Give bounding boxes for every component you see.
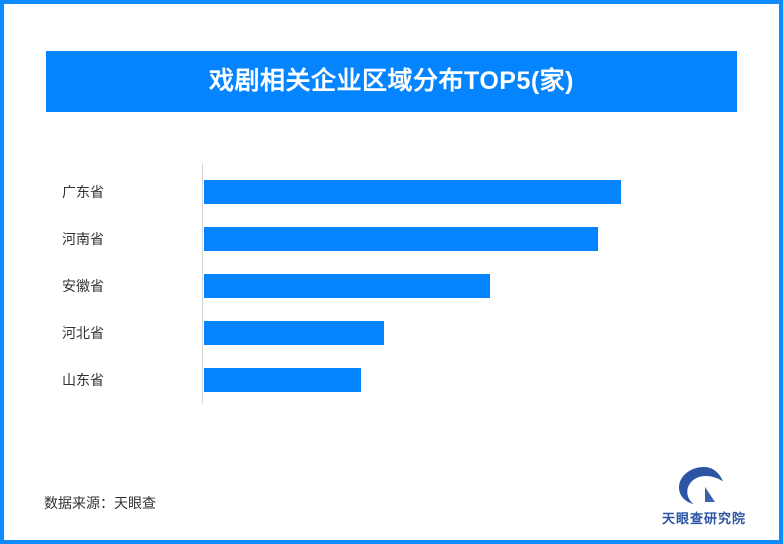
y-axis-tick-label-3: 安徽省 bbox=[62, 276, 132, 296]
bar-value-4[interactable] bbox=[204, 321, 384, 345]
y-axis-line bbox=[202, 163, 203, 404]
y-axis-tick-label-5: 山东省 bbox=[62, 370, 132, 390]
bar-value-3[interactable] bbox=[204, 274, 490, 298]
data-source-label: 数据来源：天眼查 bbox=[44, 493, 156, 513]
bar-value-5[interactable] bbox=[204, 368, 361, 392]
y-axis-tick-label-2: 河南省 bbox=[62, 229, 132, 249]
bar-value-2[interactable] bbox=[204, 227, 598, 251]
chart-plot-area: 广东省 河南省 安徽省 河北省 山东省 bbox=[4, 4, 779, 540]
brand-logo: 天眼查研究院 bbox=[654, 466, 754, 527]
y-axis-tick-label-4: 河北省 bbox=[62, 323, 132, 343]
brand-logo-text: 天眼查研究院 bbox=[662, 508, 746, 527]
infographic-canvas: 戏剧相关企业区域分布TOP5(家) 广东省 河南省 安徽省 河北省 山东省 数据… bbox=[0, 0, 783, 544]
bar-value-1[interactable] bbox=[204, 180, 621, 204]
y-axis-tick-label-1: 广东省 bbox=[62, 182, 132, 202]
eagle-logo-icon bbox=[677, 466, 731, 506]
